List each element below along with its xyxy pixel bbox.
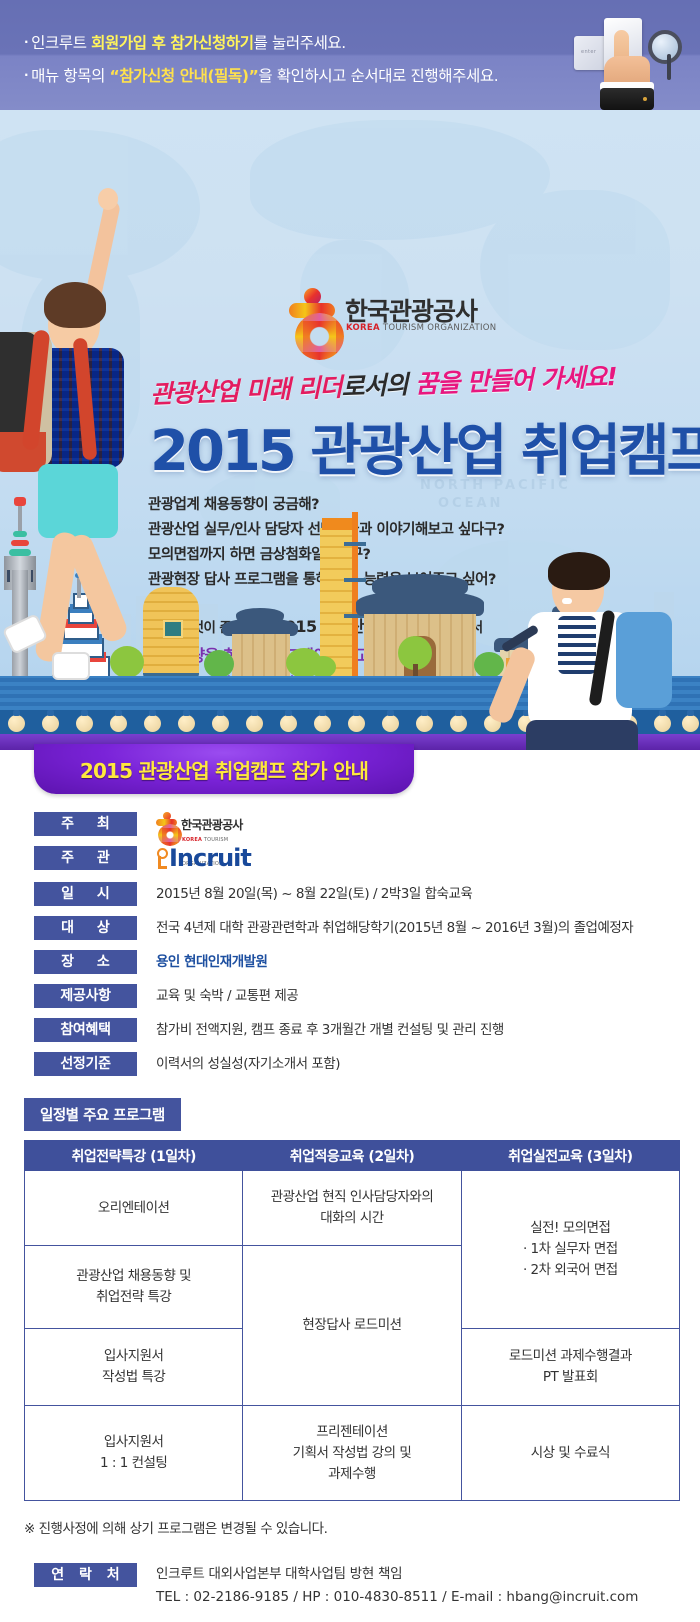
info-label-date: 일 시 [34, 882, 137, 906]
notice-1-post: 를 눌러주세요. [254, 34, 346, 52]
program-header-day1: 취업전략특강 (1일차) [25, 1141, 243, 1171]
table-row: 입사지원서 1 : 1 컨설팅 프리젠테이션 기획서 작성법 강의 및 과제수행… [25, 1406, 680, 1501]
hero-title: 2015 관광산업 취업캠프 [150, 406, 700, 487]
info-row-host: 주 최 한국관광공사 KOREA TOURISM ORGANIZATION [34, 812, 680, 838]
contact-line-1: 인크루트 대외사업본부 대학사업팀 방현 책임 [156, 1563, 638, 1586]
model-male [466, 550, 700, 750]
cell-day2-r4: 프리젠테이션 기획서 작성법 강의 및 과제수행 [243, 1406, 461, 1501]
tagline-part3: 꿈을 만들어 가세요! [415, 362, 618, 399]
program-badge: 일정별 주요 프로그램 [24, 1098, 181, 1131]
cell-day3-r4: 시상 및 수료식 [461, 1406, 679, 1501]
cell-day1-r3: 입사지원서 작성법 특강 [25, 1329, 243, 1406]
magnifier-icon [648, 30, 682, 64]
top-notice-banner: ·인크루트 회원가입 후 참가신청하기를 눌러주세요. ·매뉴 항목의 “참가신… [0, 0, 700, 110]
tagline-part2: 로서의 [341, 370, 416, 402]
kto-name-en-korea: KOREA [346, 323, 380, 333]
poster-root: ·인크루트 회원가입 후 참가신청하기를 눌러주세요. ·매뉴 항목의 “참가신… [0, 0, 700, 1622]
notice-list: ·인크루트 회원가입 후 참가신청하기를 눌러주세요. ·매뉴 항목의 “참가신… [24, 26, 564, 92]
pointing-hand-illustration: enter [568, 4, 686, 108]
info-value-criteria: 이력서의 성실성(자기소개서 포함) [137, 1052, 680, 1076]
incruit-mark-icon [156, 848, 169, 870]
kto-symbol-icon [156, 812, 177, 838]
kto-en-korea-small: KOREA [182, 837, 202, 843]
info-row-organizer: 주 관 Incruit [34, 846, 680, 874]
bullet-dot-icon: · [24, 35, 28, 49]
info-value-organizer: Incruit [137, 846, 680, 874]
info-value-place: 용인 현대인재개발원 [137, 950, 680, 974]
contact-body: 인크루트 대외사업본부 대학사업팀 방현 책임 TEL : 02-2186-91… [137, 1563, 638, 1609]
kto-name-en: KOREA TOURISM ORGANIZATION [346, 323, 496, 333]
magnifier-handle-icon [667, 54, 671, 80]
cell-day1-r1: 오리엔테이션 [25, 1171, 243, 1246]
program-header-day2: 취업적응교육 (2일차) [243, 1141, 461, 1171]
program-note: ※ 진행사정에 의해 상기 프로그램은 변경될 수 있습니다. [24, 1517, 700, 1537]
info-label-provided: 제공사항 [34, 984, 137, 1008]
info-label-host: 주 최 [34, 812, 137, 836]
cell-day2-r2: 현장답사 로드미션 [243, 1246, 461, 1406]
section-title-banner: 2015 관광산업 취업캠프 참가 안내 [34, 744, 414, 794]
incruit-wordmark: Incruit [169, 844, 251, 872]
cuff-button-icon [643, 97, 647, 101]
info-row-criteria: 선정기준 이력서의 성실성(자기소개서 포함) [34, 1052, 680, 1078]
kto-name-en-rest: TOURISM ORGANIZATION [380, 323, 497, 333]
kto-symbol-icon [289, 288, 335, 344]
program-header-day3: 취업실전교육 (3일차) [461, 1141, 679, 1171]
info-row-date: 일 시 2015년 8월 20일(목) ~ 8월 22일(토) / 2박3일 합… [34, 882, 680, 908]
info-value-benefits: 참가비 전액지원, 캠프 종료 후 3개월간 개별 컨설팅 및 관리 진행 [137, 1018, 680, 1042]
info-label-target: 대 상 [34, 916, 137, 940]
info-label-place: 장 소 [34, 950, 137, 974]
card-mini-label: enter [581, 49, 596, 55]
notice-1-highlight: 회원가입 후 참가신청하기 [91, 34, 253, 52]
cell-day3-r3: 로드미션 과제수행결과 PT 발표회 [461, 1329, 679, 1406]
section-title-wrap: 2015 관광산업 취업캠프 참가 안내 [0, 750, 700, 808]
info-value-date: 2015년 8월 20일(목) ~ 8월 22일(토) / 2박3일 합숙교육 [137, 882, 680, 906]
notice-1-pre: 인크루트 [31, 34, 91, 52]
info-row-place: 장 소 용인 현대인재개발원 [34, 950, 680, 976]
notice-line-1: ·인크루트 회원가입 후 참가신청하기를 눌러주세요. [24, 26, 564, 59]
info-value-host: 한국관광공사 KOREA TOURISM ORGANIZATION [137, 812, 680, 838]
program-table-header-row: 취업전략특강 (1일차) 취업적응교육 (2일차) 취업실전교육 (3일차) [25, 1141, 680, 1171]
notice-2-pre: 매뉴 항목의 [31, 67, 109, 85]
incruit-logo: Incruit [156, 846, 251, 874]
cell-day1-r4: 입사지원서 1 : 1 컨설팅 [25, 1406, 243, 1501]
info-table: 주 최 한국관광공사 KOREA TOURISM ORGANIZATION 주 … [0, 812, 700, 1078]
hero-section: NORTH PACIFIC OCEAN 한국관광공사 KOREA TOURISM… [0, 110, 700, 750]
notice-line-2: ·매뉴 항목의 “참가신청 안내(필독)”을 확인하시고 순서대로 진행해주세요… [24, 59, 564, 92]
info-label-criteria: 선정기준 [34, 1052, 137, 1076]
info-value-provided: 교육 및 숙박 / 교통편 제공 [137, 984, 680, 1008]
section-title-text: 2015 관광산업 취업캠프 참가 안내 [80, 755, 368, 784]
contact-label: 연 락 처 [34, 1563, 137, 1587]
program-table: 취업전략특강 (1일차) 취업적응교육 (2일차) 취업실전교육 (3일차) 오… [24, 1140, 680, 1501]
suit-sleeve [600, 88, 654, 110]
info-label-benefits: 참여혜택 [34, 1018, 137, 1042]
cell-day3-r1: 실전! 모의면접 · 1차 실무자 면접 · 2차 외국어 면접 [461, 1171, 679, 1329]
kto-logo: 한국관광공사 KOREA TOURISM ORGANIZATION [289, 288, 504, 344]
bullet-dot-icon: · [24, 68, 28, 82]
table-row: 오리엔테이션 관광산업 현직 인사담당자와의 대화의 시간 실전! 모의면접 ·… [25, 1171, 680, 1246]
info-row-target: 대 상 전국 4년제 대학 관광관련학과 취업해당학기(2015년 8월 ~ 2… [34, 916, 680, 942]
info-row-provided: 제공사항 교육 및 숙박 / 교통편 제공 [34, 984, 680, 1010]
cell-day1-r2: 관광산업 채용동향 및 취업전략 특강 [25, 1246, 243, 1329]
info-label-organizer: 주 관 [34, 846, 137, 870]
model-female [0, 182, 216, 742]
kto-logo-small: 한국관광공사 KOREA TOURISM ORGANIZATION [156, 812, 264, 838]
notice-2-post: 을 확인하시고 순서대로 진행해주세요. [258, 67, 498, 85]
notice-2-highlight: “참가신청 안내(필독)” [110, 67, 259, 85]
info-value-target: 전국 4년제 대학 관광관련학과 취업해당학기(2015년 8월 ~ 2016년… [137, 916, 680, 940]
contact-block: 연 락 처 인크루트 대외사업본부 대학사업팀 방현 책임 TEL : 02-2… [34, 1563, 700, 1609]
cell-day2-r1: 관광산업 현직 인사담당자와의 대화의 시간 [243, 1171, 461, 1246]
contact-line-2: TEL : 02-2186-9185 / HP : 010-4830-8511 … [156, 1586, 638, 1609]
info-row-benefits: 참여혜택 참가비 전액지원, 캠프 종료 후 3개월간 개별 컨설팅 및 관리 … [34, 1018, 680, 1044]
